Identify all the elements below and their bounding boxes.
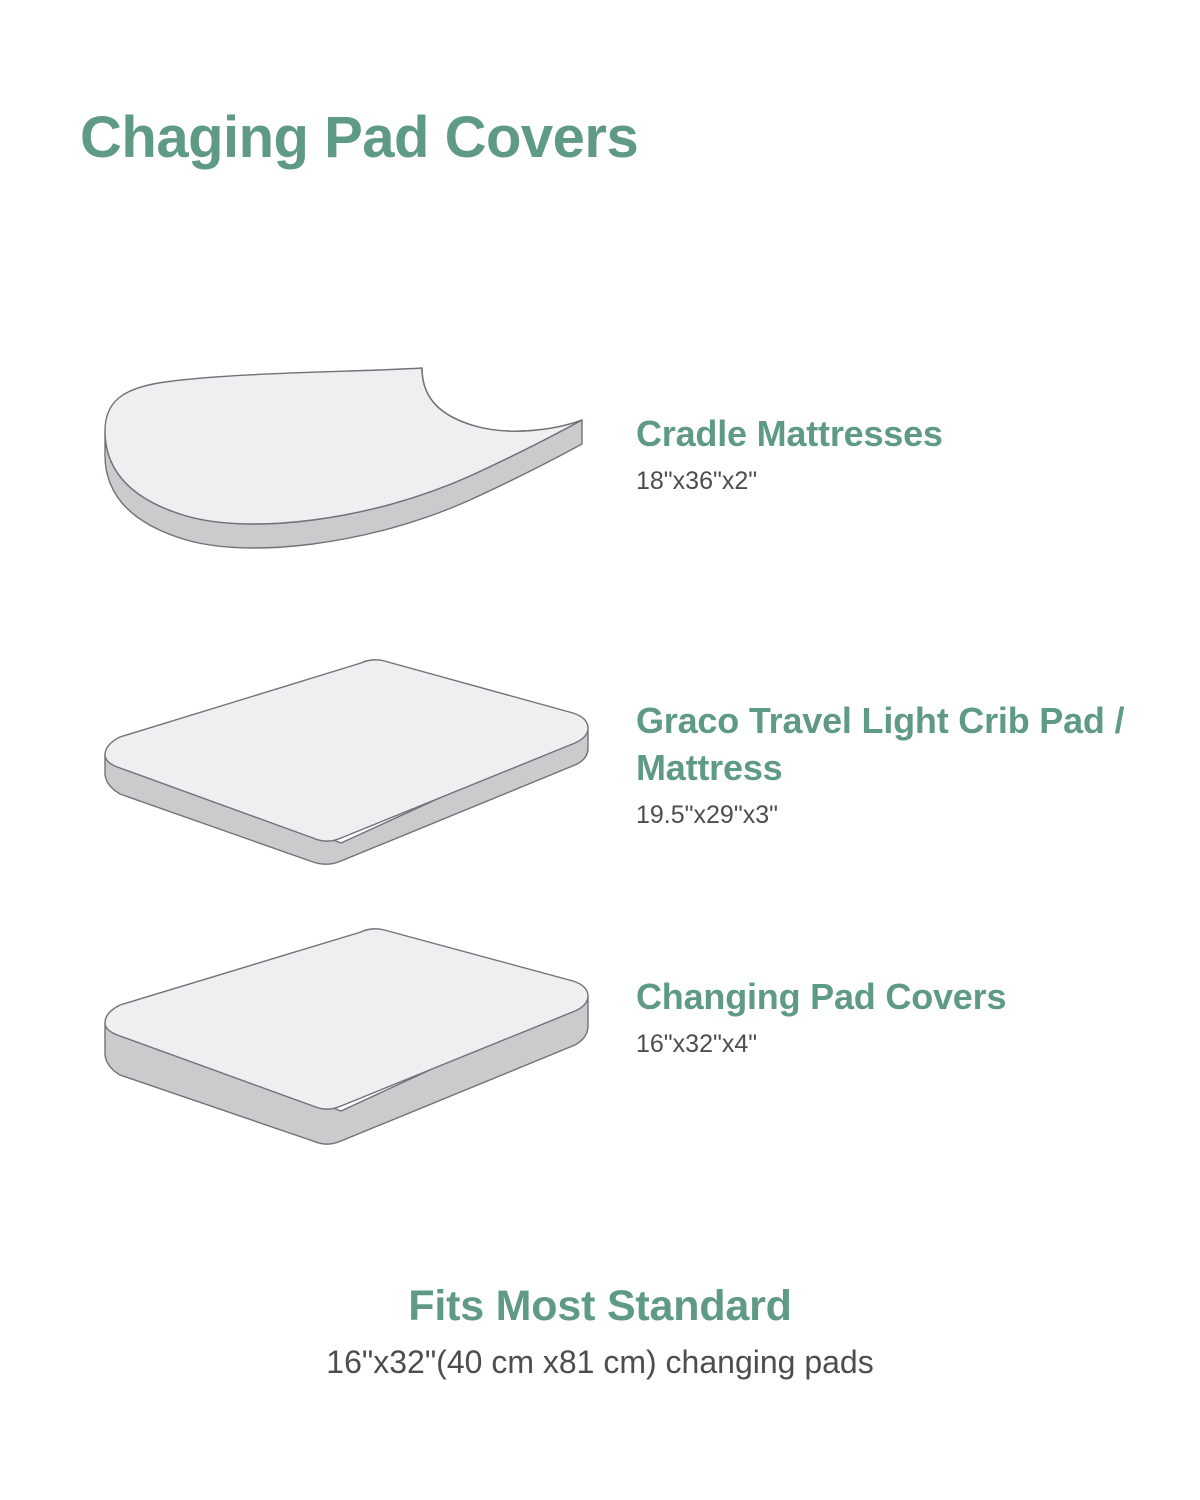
product-dimensions: 19.5"x29"x3": [636, 798, 1156, 832]
product-name: Changing Pad Covers: [636, 973, 1156, 1020]
thick-changing-pad-illustration: [70, 925, 630, 1165]
footer-block: Fits Most Standard 16"x32"(40 cm x81 cm)…: [0, 1278, 1200, 1384]
contoured-changing-pad-illustration: [70, 360, 630, 600]
footer-subline: 16"x32"(40 cm x81 cm) changing pads: [0, 1340, 1200, 1384]
product-info-changing-pad-covers: Changing Pad Covers 16"x32"x4": [636, 973, 1156, 1061]
footer-headline: Fits Most Standard: [0, 1278, 1200, 1334]
infographic-page: Chaging Pad Covers Cradle Mattresses 18"…: [0, 0, 1200, 1500]
product-row-graco-travel-light: Graco Travel Light Crib Pad / Mattress 1…: [0, 655, 1200, 885]
page-title: Chaging Pad Covers: [80, 102, 638, 174]
flat-mattress-illustration: [70, 655, 630, 895]
product-dimensions: 18"x36"x2": [636, 464, 1156, 498]
product-dimensions: 16"x32"x4": [636, 1027, 1156, 1061]
product-info-cradle-mattresses: Cradle Mattresses 18"x36"x2": [636, 410, 1156, 498]
product-row-changing-pad-covers: Changing Pad Covers 16"x32"x4": [0, 925, 1200, 1155]
product-name: Graco Travel Light Crib Pad / Mattress: [636, 697, 1156, 791]
product-row-cradle-mattresses: Cradle Mattresses 18"x36"x2": [0, 360, 1200, 600]
product-info-graco-travel-light: Graco Travel Light Crib Pad / Mattress 1…: [636, 697, 1156, 832]
product-name: Cradle Mattresses: [636, 410, 1156, 457]
